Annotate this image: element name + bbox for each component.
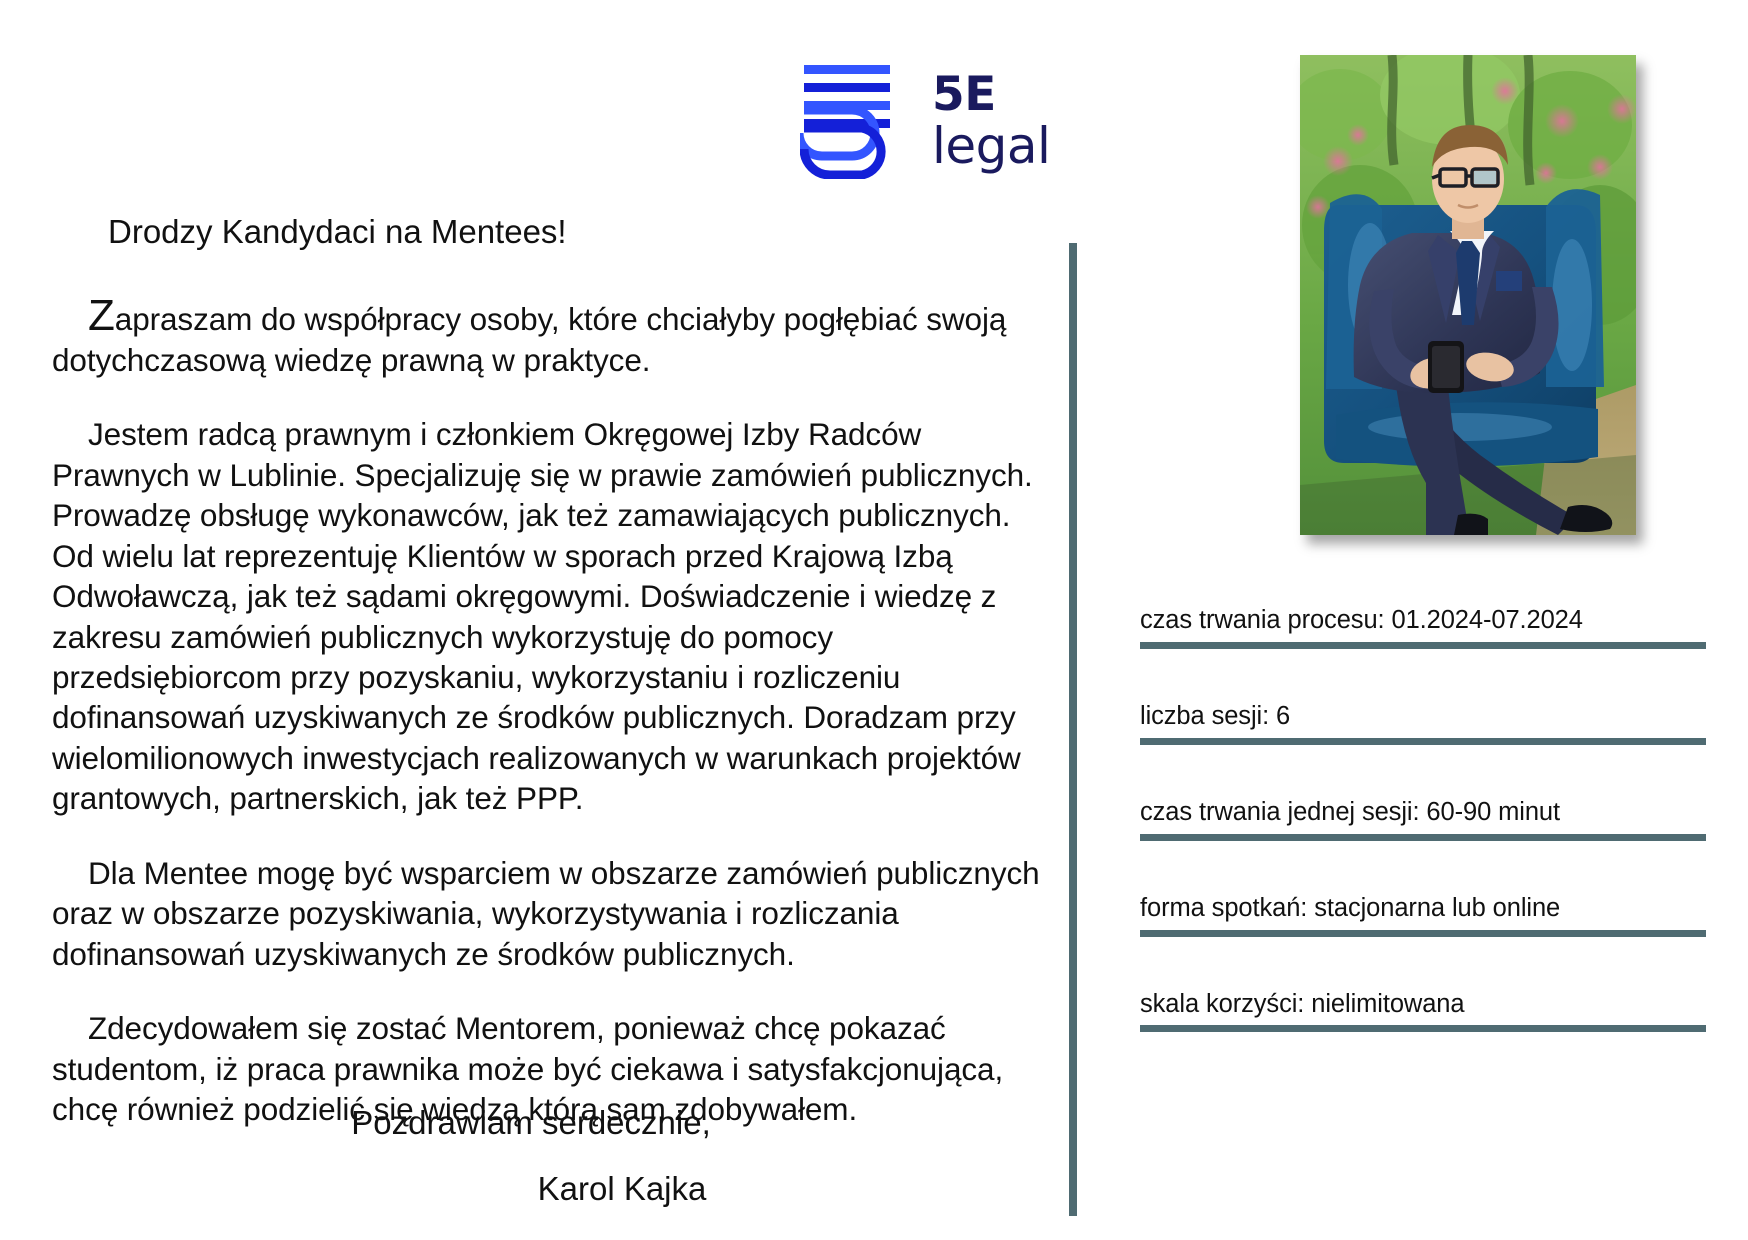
wordmark-bottom: legal — [932, 122, 1050, 171]
detail-session-length: czas trwania jednej sesji: 60-90 minut — [1140, 797, 1706, 829]
closing-line: Pozdrawiam serdecznie, — [52, 1104, 992, 1142]
list-item: skala korzyści: nielimitowana — [1140, 989, 1706, 1033]
5e-monogram-icon — [800, 61, 912, 179]
signer-name: Karol Kajka — [52, 1170, 992, 1208]
dropcap-letter: Z — [88, 291, 115, 340]
brand-logo: 5E legal — [800, 52, 1100, 187]
detail-rule — [1140, 834, 1706, 841]
list-item: czas trwania procesu: 01.2024-07.2024 — [1140, 605, 1706, 649]
column-divider — [1069, 243, 1077, 1216]
detail-rule — [1140, 738, 1706, 745]
program-details-list: czas trwania procesu: 01.2024-07.2024 li… — [1140, 605, 1706, 1032]
paragraph-bio: Jestem radcą prawnym i członkiem Okręgow… — [52, 414, 1052, 819]
mentor-portrait — [1300, 55, 1636, 535]
detail-sessions-count: liczba sesji: 6 — [1140, 701, 1706, 733]
brand-wordmark: 5E legal — [932, 68, 1050, 171]
detail-rule — [1140, 642, 1706, 649]
signature-block: Pozdrawiam serdecznie, Karol Kajka — [52, 1104, 992, 1208]
list-item: liczba sesji: 6 — [1140, 701, 1706, 745]
wordmark-top: 5E — [932, 72, 1050, 118]
paragraph-intro-text: apraszam do współpracy osoby, które chci… — [52, 301, 1006, 377]
paragraph-intro: Zapraszam do współpracy osoby, które chc… — [52, 298, 1052, 380]
detail-rule — [1140, 930, 1706, 937]
paragraph-offer: Dla Mentee mogę być wsparciem w obszarze… — [52, 853, 1052, 974]
detail-duration: czas trwania procesu: 01.2024-07.2024 — [1140, 605, 1706, 637]
poster-page: 5E legal Drodzy Kandydaci na Mentees! Za… — [0, 0, 1748, 1240]
salutation: Drodzy Kandydaci na Mentees! — [52, 212, 1052, 252]
list-item: czas trwania jednej sesji: 60-90 minut — [1140, 797, 1706, 841]
letter-body: Drodzy Kandydaci na Mentees! Zapraszam d… — [52, 212, 1052, 1160]
detail-benefits-scale: skala korzyści: nielimitowana — [1140, 989, 1706, 1021]
detail-meeting-form: forma spotkań: stacjonarna lub online — [1140, 893, 1706, 925]
detail-rule — [1140, 1025, 1706, 1032]
list-item: forma spotkań: stacjonarna lub online — [1140, 893, 1706, 937]
